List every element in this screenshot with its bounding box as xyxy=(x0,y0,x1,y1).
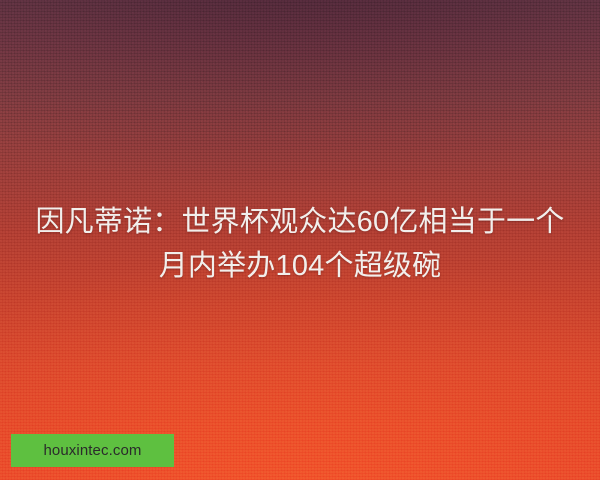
watermark-label: houxintec.com xyxy=(43,443,141,458)
watermark-badge: houxintec.com xyxy=(11,434,174,467)
thumbnail-canvas: 因凡蒂诺：世界杯观众达60亿相当于一个月内举办104个超级碗 houxintec… xyxy=(0,0,600,480)
headline-text: 因凡蒂诺：世界杯观众达60亿相当于一个月内举办104个超级碗 xyxy=(0,200,600,288)
